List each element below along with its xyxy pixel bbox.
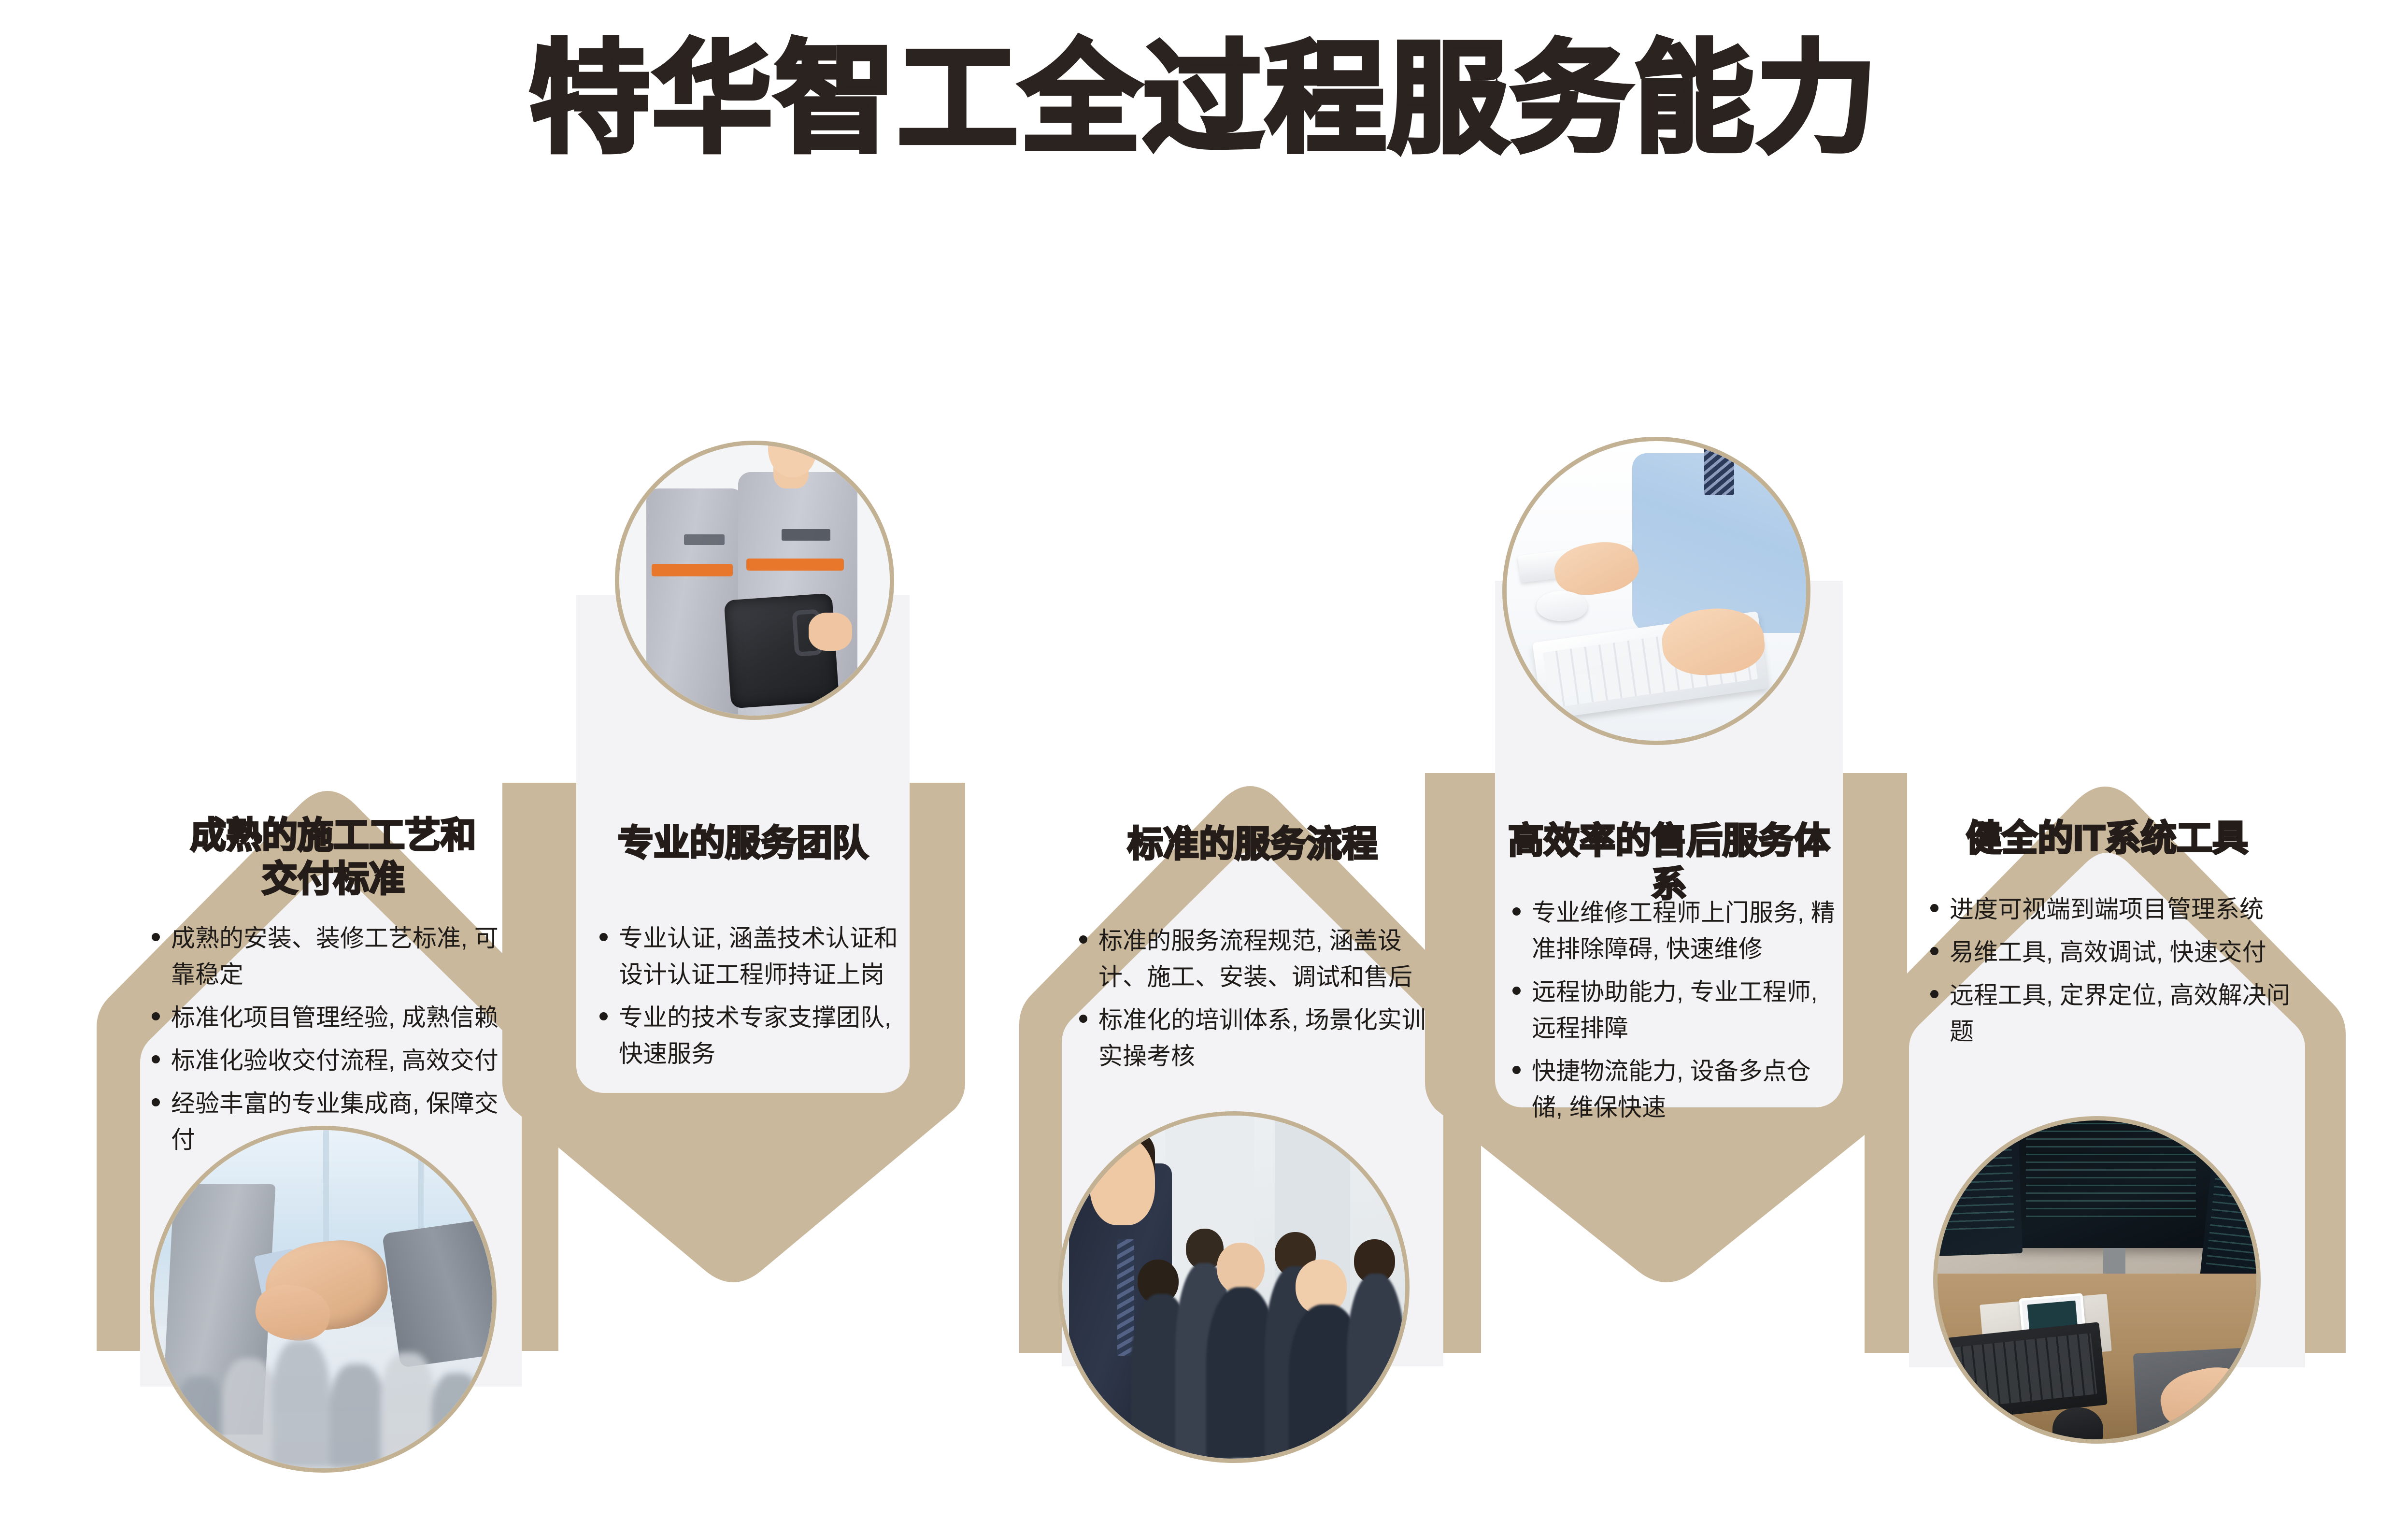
list-item: 标准化验收交付流程, 高效交付	[149, 1043, 521, 1079]
card-1-title-line1: 成熟的施工工艺和	[145, 814, 522, 857]
card-5-title: 健全的IT系统工具	[1909, 817, 2305, 860]
card-1-title-line2: 交付标准	[145, 857, 522, 901]
list-item: 标准化项目管理经验, 成熟信赖	[149, 1000, 521, 1036]
card-3-title-line1: 标准的服务流程	[1062, 822, 1443, 866]
card-4-title-line1: 高效率的售后服务体系	[1495, 819, 1843, 906]
list-item: 专业的技术专家支撑团队, 快速服务	[597, 1000, 906, 1072]
list-item: 远程工具, 定界定位, 高效解决问题	[1927, 977, 2299, 1050]
list-item: 专业维修工程师上门服务, 精准排除障碍, 快速维修	[1510, 895, 1838, 967]
list-item: 成熟的安装、装修工艺标准, 可靠稳定	[149, 920, 521, 993]
card-2-title-line1: 专业的服务团队	[576, 821, 910, 865]
card-1-title: 成熟的施工工艺和 交付标准	[145, 814, 522, 901]
card-3-title: 标准的服务流程	[1062, 822, 1443, 866]
training-classroom-photo	[1058, 1111, 1410, 1463]
list-item: 易维工具, 高效调试, 快速交付	[1927, 934, 2299, 971]
technicians-photo	[615, 441, 894, 720]
page-title: 特华智工全过程服务能力	[0, 34, 2408, 164]
list-item: 远程协助能力, 专业工程师, 远程排障	[1510, 974, 1838, 1047]
list-item: 快捷物流能力, 设备多点仓储, 维保快速	[1510, 1053, 1838, 1126]
list-item: 专业认证, 涵盖技术认证和设计认证工程师持证上岗	[597, 920, 906, 993]
list-item: 进度可视端到端项目管理系统	[1927, 891, 2299, 928]
card-3-bullets: 标准的服务流程规范, 涵盖设计、施工、安装、调试和售后 标准化的培训体系, 场景…	[1076, 923, 1434, 1081]
infographic-canvas: 特华智工全过程服务能力 成熟的施工工艺和 交付标准 成熟的安装、装修工艺标准, …	[0, 0, 2408, 1520]
card-4-bullets: 专业维修工程师上门服务, 精准排除障碍, 快速维修 远程协助能力, 专业工程师,…	[1510, 895, 1838, 1133]
list-item: 标准的服务流程规范, 涵盖设计、施工、安装、调试和售后	[1076, 923, 1434, 995]
list-item: 标准化的培训体系, 场景化实训实操考核	[1076, 1002, 1434, 1075]
keyboard-typing-photo	[1502, 437, 1810, 745]
card-4-title: 高效率的售后服务体系	[1495, 819, 1843, 906]
card-2-bullets: 专业认证, 涵盖技术认证和设计认证工程师持证上岗 专业的技术专家支撑团队, 快速…	[597, 920, 906, 1079]
card-5-bullets: 进度可视端到端项目管理系统 易维工具, 高效调试, 快速交付 远程工具, 定界定…	[1927, 891, 2299, 1057]
card-2-title: 专业的服务团队	[576, 821, 910, 865]
it-workstation-photo	[1933, 1116, 2261, 1444]
handshake-photo	[150, 1126, 497, 1473]
card-5-title-line1: 健全的IT系统工具	[1909, 817, 2305, 860]
